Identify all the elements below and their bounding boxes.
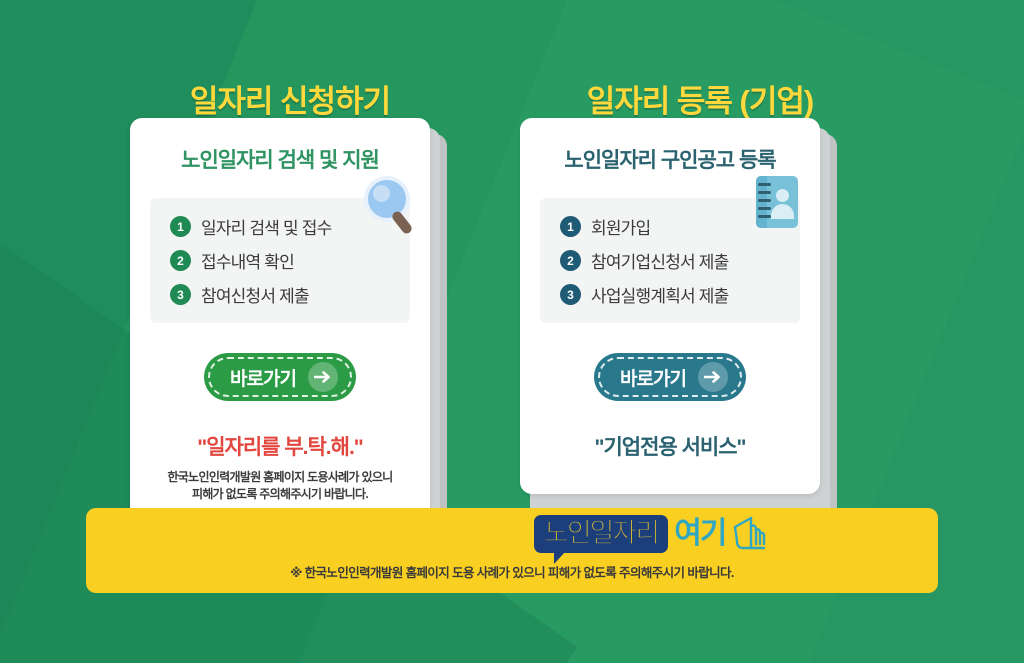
goto-register-button[interactable]: 바로가기 [594,353,746,401]
pointing-hand-icon [731,514,773,554]
logo-bubble-text: 노인일자리 [544,519,658,547]
step-number: 2 [170,250,191,271]
goto-apply-button[interactable]: 바로가기 [204,353,356,401]
card-apply-wrapper: 노인일자리 검색 및 지원 1 일자리 검색 및 접수 2 접수내역 확인 3 … [130,118,430,518]
magnifier-icon [364,180,418,234]
card-apply-title: 노인일자리 검색 및 지원 [150,144,410,174]
step-number: 1 [560,216,581,237]
card-apply: 노인일자리 검색 및 지원 1 일자리 검색 및 접수 2 접수내역 확인 3 … [130,118,430,518]
logo-here-text: 여기 [674,519,725,549]
step-label: 참여기업신청서 제출 [591,248,728,273]
poster-canvas: 일자리 신청하기 노인일자리 검색 및 지원 1 일자리 검색 및 접수 2 접… [0,0,1024,663]
logo-speech-bubble: 노인일자리 [534,515,668,552]
list-item: 1 회원가입 [560,214,782,239]
list-item: 3 참여신청서 제출 [170,282,392,307]
step-number: 2 [560,250,581,271]
footer-banner: 노인일자리 여기 ※ 한국노인인력개발원 홈페이지 도용 사례가 있으니 피해가… [86,508,938,593]
card-apply-cta-row: 바로가기 [150,353,410,401]
card-apply-quote: "일자리를 부.탁.해." [150,431,410,461]
arrow-right-icon [698,362,728,392]
card-apply-note-line1: 한국노인인력개발원 홈페이지 도용사례가 있으니 [150,469,410,486]
list-item: 2 참여기업신청서 제출 [560,248,782,273]
card-apply-note: 한국노인인력개발원 홈페이지 도용사례가 있으니 피해가 없도록 주의해주시기 … [150,469,410,504]
step-label: 접수내역 확인 [201,248,294,273]
card-register-title: 노인일자리 구인공고 등록 [540,144,800,174]
card-apply-note-line2: 피해가 없도록 주의해주시기 바랍니다. [150,486,410,503]
step-label: 사업실행계획서 제출 [591,282,728,307]
brand-logo: 노인일자리 여기 [534,514,773,554]
card-register-wrapper: 노인일자리 구인공고 등록 1 회원가입 2 참여기업신청 [520,118,820,494]
step-label: 참여신청서 제출 [201,282,309,307]
card-register-cta-row: 바로가기 [540,353,800,401]
card-register-steps: 1 회원가입 2 참여기업신청서 제출 3 사업실행계획서 제출 [540,198,800,323]
footer-warning-note: ※ 한국노인인력개발원 홈페이지 도용 사례가 있으니 피해가 없도록 주의해주… [86,562,938,581]
step-number: 3 [560,284,581,305]
card-register-quote: "기업전용 서비스" [540,431,800,461]
list-item: 2 접수내역 확인 [170,248,392,273]
card-register: 노인일자리 구인공고 등록 1 회원가입 2 참여기업신청 [520,118,820,494]
arrow-right-icon [308,362,338,392]
goto-register-button-label: 바로가기 [620,364,686,391]
column-heading-register: 일자리 등록 (기업) [530,76,870,121]
card-apply-steps: 1 일자리 검색 및 접수 2 접수내역 확인 3 참여신청서 제출 [150,198,410,323]
list-item: 3 사업실행계획서 제출 [560,282,782,307]
address-book-icon [756,176,798,228]
goto-apply-button-label: 바로가기 [230,364,296,391]
step-label: 일자리 검색 및 접수 [201,214,332,239]
step-number: 1 [170,216,191,237]
step-number: 3 [170,284,191,305]
list-item: 1 일자리 검색 및 접수 [170,214,392,239]
column-heading-apply: 일자리 신청하기 [140,76,440,121]
step-label: 회원가입 [591,214,650,239]
